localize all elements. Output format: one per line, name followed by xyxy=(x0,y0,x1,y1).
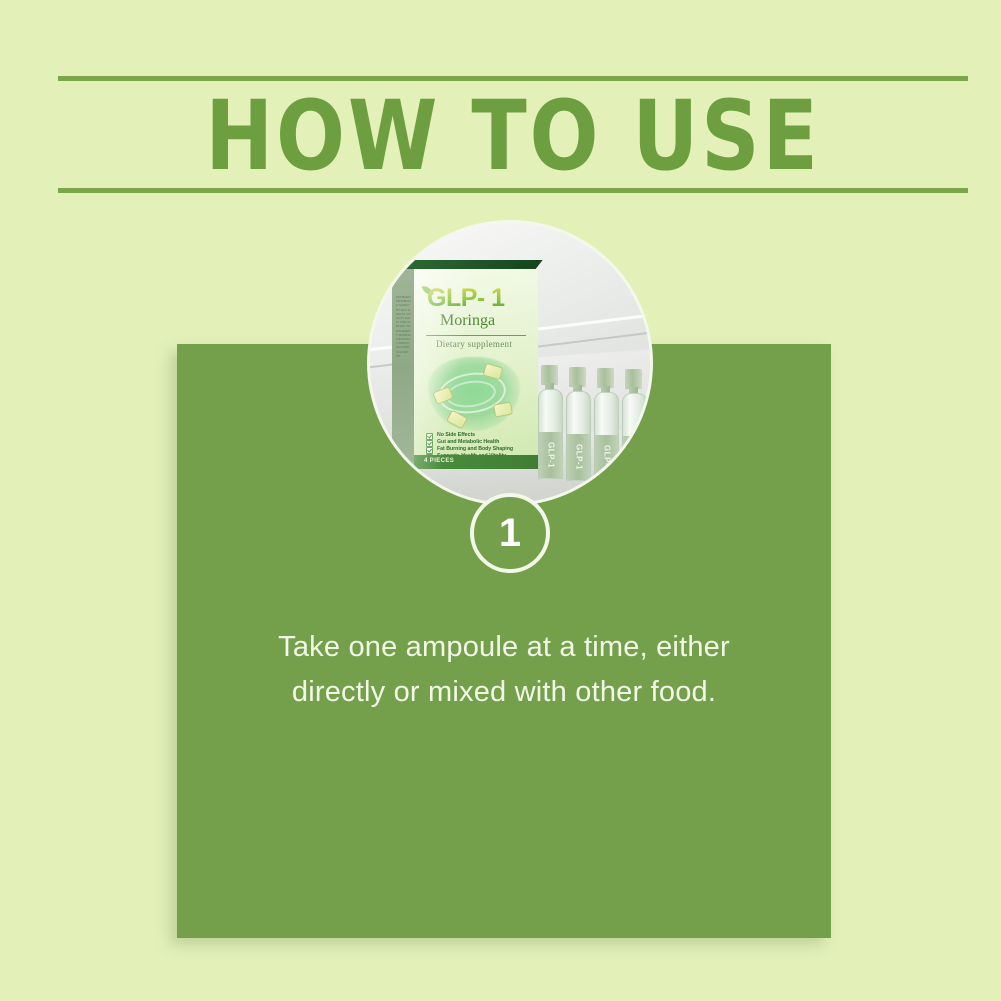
header: HOW TO USE xyxy=(58,76,968,194)
ampoule-cap xyxy=(625,369,642,389)
ampoule: GLP-1 xyxy=(538,365,561,477)
ampoule: GLP-1 xyxy=(594,368,617,480)
how-to-use-slide: HOW TO USE Take one ampoule at a time, e… xyxy=(0,0,1001,1001)
photo-backdrop: FAT BURN METABOLIC SUPPORT GUT HEALTH VI… xyxy=(370,223,650,503)
product-box: FAT BURN METABOLIC SUPPORT GUT HEALTH VI… xyxy=(392,269,538,469)
ampoule-body: GLP-1 xyxy=(594,392,619,482)
ampoule-label: GLP-1 xyxy=(595,435,618,481)
product-photo-circle: FAT BURN METABOLIC SUPPORT GUT HEALTH VI… xyxy=(370,223,650,503)
ampoule-label-text: GLP-1 xyxy=(630,446,639,472)
ampoule-label-text: GLP-1 xyxy=(602,445,611,471)
box-divider xyxy=(426,335,526,336)
box-front-face: GLP- 1 Moringa Dietary supplement No xyxy=(414,269,538,469)
instruction-text: Take one ampoule at a time, either direc… xyxy=(237,625,771,715)
ampoule-body: GLP-1 xyxy=(538,389,563,479)
benefit-label: Fat Burning and Body Shaping xyxy=(437,446,513,452)
box-side-face: FAT BURN METABOLIC SUPPORT GUT HEALTH VI… xyxy=(392,269,414,469)
box-footer-strip: 4 PIECES xyxy=(414,455,538,469)
ampoule-cap xyxy=(569,367,586,387)
ampoule-label: GLP-1 xyxy=(623,436,646,482)
box-brand-name: GLP- 1 xyxy=(427,285,505,311)
list-item: Gut and Metabolic Health xyxy=(426,439,538,446)
ampoule-cap xyxy=(541,365,558,385)
list-item: No Side Effects xyxy=(426,432,538,439)
ampoule-body: GLP-1 xyxy=(622,393,647,483)
ampoule: GLP-1 xyxy=(622,369,645,481)
ampoule: GLP-1 xyxy=(566,367,589,479)
list-item: Fat Burning and Body Shaping xyxy=(426,446,538,453)
benefit-label: No Side Effects xyxy=(437,432,475,438)
box-side-text: FAT BURN METABOLIC SUPPORT GUT HEALTH VI… xyxy=(396,295,411,358)
title-rule-bottom xyxy=(58,188,968,193)
ampoule-cap xyxy=(597,368,614,388)
benefit-label: Gut and Metabolic Health xyxy=(437,439,499,445)
ampoule-label: GLP-1 xyxy=(539,432,562,478)
step-number-badge: 1 xyxy=(470,493,550,573)
page-title: HOW TO USE xyxy=(85,84,940,188)
ampoule-group: GLP-1 GLP-1 xyxy=(538,351,646,481)
ampoule-label: GLP-1 xyxy=(567,434,590,480)
ampoule-label-text: GLP-1 xyxy=(546,442,555,468)
ampoule-body: GLP-1 xyxy=(566,391,591,481)
box-count-label: 4 PIECES xyxy=(424,458,454,464)
box-category-label: Dietary supplement xyxy=(436,339,512,349)
box-artwork-ampoule xyxy=(493,402,513,418)
ampoule-label-text: GLP-1 xyxy=(574,444,583,470)
box-variant-name: Moringa xyxy=(440,312,495,330)
